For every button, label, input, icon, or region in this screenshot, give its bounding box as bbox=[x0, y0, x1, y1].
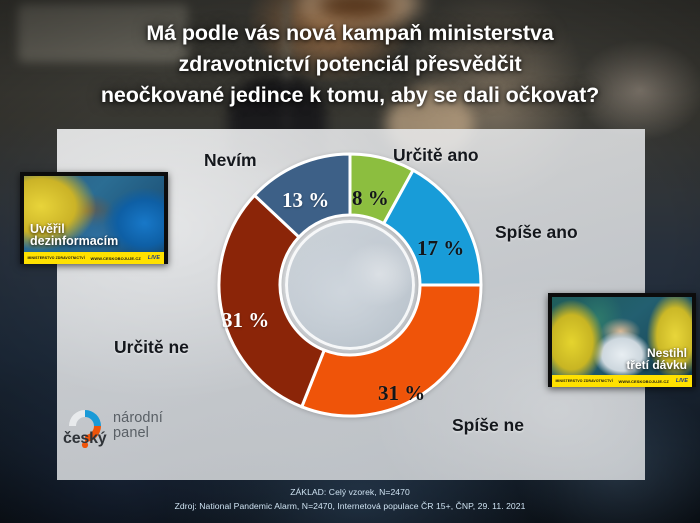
slice-value-spise-ne: 31 % bbox=[378, 381, 425, 406]
page-title-line-1: Má podle vás nová kampaň ministerstva bbox=[0, 18, 700, 49]
slice-value-urcite-ne: 31 % bbox=[222, 308, 269, 333]
poster-left-caption: Uvěřil dezinformacím bbox=[30, 223, 118, 249]
logo-word-cesky: český bbox=[63, 430, 107, 448]
category-label-spise-ano: Spíše ano bbox=[495, 222, 578, 243]
campaign-poster-left: Uvěřil dezinformacím MINISTERSTVO ZDRAVO… bbox=[20, 172, 168, 264]
category-label-nevim: Nevím bbox=[204, 150, 257, 171]
poster-left-bar-left-text: MINISTERSTVO ZDRAVOTNICTVÍ bbox=[27, 256, 84, 260]
category-label-spise-ne: Spíše ne bbox=[452, 415, 524, 436]
poster-left-bar-right-text: LIVE bbox=[148, 255, 160, 261]
logo-text-line-2: panel bbox=[113, 426, 163, 441]
donut-chart-svg bbox=[210, 145, 490, 425]
slice-value-urcite-ano: 8 % bbox=[352, 186, 389, 211]
poster-right-footer-bar: MINISTERSTVO ZDRAVOTNICTVÍ WWW.CESKOBOJU… bbox=[552, 375, 692, 387]
slice-value-spise-ano: 17 % bbox=[417, 236, 464, 261]
category-label-urcite-ne: Určitě ne bbox=[114, 337, 189, 358]
donut-slice-group bbox=[219, 154, 481, 416]
poster-left-caption-line-2: dezinformacím bbox=[30, 235, 118, 248]
poster-right-caption: Nestihl třetí dávku bbox=[626, 347, 687, 371]
campaign-poster-right: Nestihl třetí dávku MINISTERSTVO ZDRAVOT… bbox=[548, 293, 696, 387]
poster-right-bar-url: WWW.CESKOBOJUJE.CZ bbox=[619, 378, 669, 383]
poster-right-photo: Nestihl třetí dávku bbox=[552, 297, 692, 375]
poster-left-photo: Uvěřil dezinformacím bbox=[24, 176, 164, 252]
donut-chart bbox=[210, 145, 490, 425]
footer-source-line: Zdroj: National Pandemic Alarm, N=2470, … bbox=[0, 499, 700, 513]
footer-base-line: ZÁKLAD: Celý vzorek, N=2470 bbox=[0, 485, 700, 499]
poster-right-bar-right-text: LIVE bbox=[676, 378, 688, 384]
poster-left-bar-url: WWW.CESKOBOJUJE.CZ bbox=[91, 255, 141, 260]
poster-right-caption-line-1: Nestihl bbox=[626, 347, 687, 359]
category-label-urcite-ano: Určitě ano bbox=[393, 145, 479, 166]
slice-value-nevim: 13 % bbox=[282, 188, 329, 213]
page-title-line-3: neočkované jedince k tomu, aby se dali o… bbox=[0, 80, 700, 111]
page-title-line-2: zdravotnictví potenciál přesvědčit bbox=[0, 49, 700, 80]
poster-right-bar-left-text: MINISTERSTVO ZDRAVOTNICTVÍ bbox=[555, 379, 612, 383]
page-title: Má podle vás nová kampaň ministerstva zd… bbox=[0, 18, 700, 111]
logo-text-line-1: národní bbox=[113, 411, 163, 426]
poster-right-caption-line-2: třetí dávku bbox=[626, 359, 687, 371]
footer: ZÁKLAD: Celý vzorek, N=2470 Zdroj: Natio… bbox=[0, 485, 700, 513]
logo-text: národní panel bbox=[113, 411, 163, 441]
poster-left-footer-bar: MINISTERSTVO ZDRAVOTNICTVÍ WWW.CESKOBOJU… bbox=[24, 252, 164, 264]
